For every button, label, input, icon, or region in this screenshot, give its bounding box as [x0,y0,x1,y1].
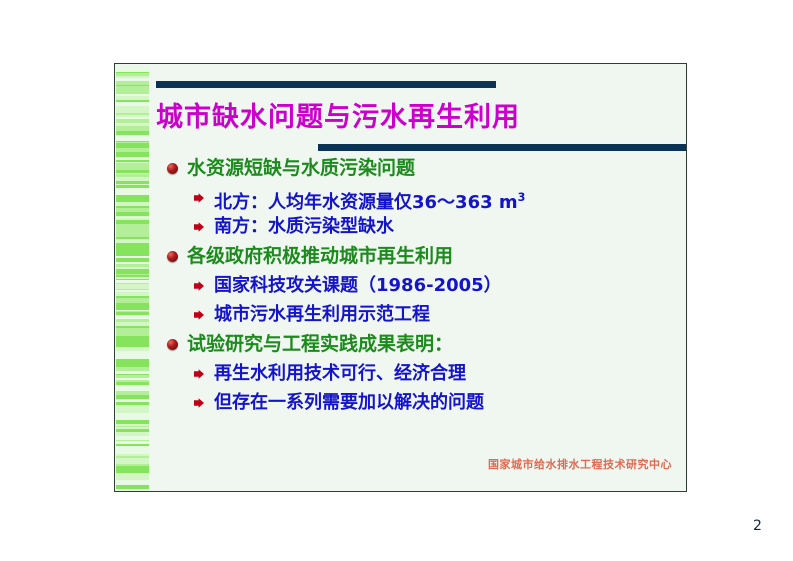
arrow-bullet-icon [193,221,205,233]
bullet-row: 水资源短缺与水质污染问题 [167,154,679,184]
bullet-row: 城市污水再生利用示范工程 [193,301,679,330]
slide-title: 城市缺水问题与污水再生利用 [156,95,676,134]
bullet-text: 南方：水质污染型缺水 [214,213,394,241]
slide-footer: 国家城市给水排水工程技术研究中心 [115,456,672,472]
slide-canvas: 城市缺水问题与污水再生利用 水资源短缺与水质污染问题北方：人均年水资源量仅36～… [114,63,687,492]
bullet-text: 再生水利用技术可行、经济合理 [214,360,466,388]
bullet-text: 水资源短缺与水质污染问题 [187,154,415,182]
bullet-row: 但存在一系列需要加以解决的问题 [193,389,679,418]
bullet-row: 国家科技攻关课题（1986-2005） [193,272,679,301]
arrow-bullet-icon [193,368,205,380]
bullet-row: 各级政府积极推动城市再生利用 [167,242,679,272]
bullet-text: 但存在一系列需要加以解决的问题 [214,389,484,417]
arrow-bullet-icon [193,280,205,292]
sphere-bullet-icon [167,339,178,350]
bullet-list: 水资源短缺与水质污染问题北方：人均年水资源量仅36～363 m3南方：水质污染型… [159,154,679,418]
arrow-bullet-icon [193,192,205,204]
bullet-text: 各级政府积极推动城市再生利用 [187,242,453,270]
title-rule-bottom [318,144,687,151]
sphere-bullet-icon [167,251,178,262]
bullet-text: 城市污水再生利用示范工程 [214,301,430,329]
bullet-text: 国家科技攻关课题（1986-2005） [214,272,502,300]
page-number: 2 [753,518,762,534]
bullet-text: 试验研究与工程实践成果表明： [187,330,453,358]
title-rule-top [156,81,496,88]
bullet-row: 试验研究与工程实践成果表明： [167,330,679,360]
bullet-row: 南方：水质污染型缺水 [193,213,679,242]
superscript: 3 [518,191,526,204]
sphere-bullet-icon [167,163,178,174]
arrow-bullet-icon [193,309,205,321]
bullet-row: 再生水利用技术可行、经济合理 [193,360,679,389]
green-stripe-bar [116,65,149,492]
stripe [116,489,149,492]
arrow-bullet-icon [193,397,205,409]
bullet-row: 北方：人均年水资源量仅36～363 m3 [193,184,679,213]
